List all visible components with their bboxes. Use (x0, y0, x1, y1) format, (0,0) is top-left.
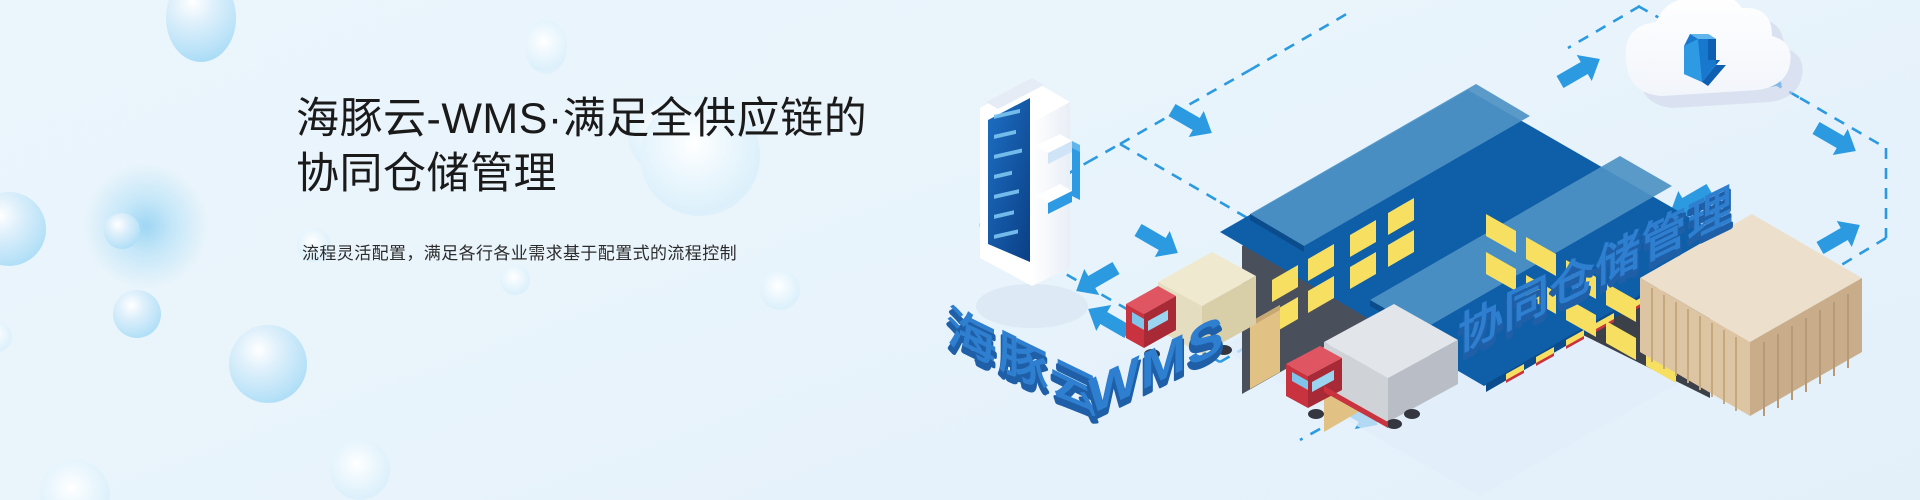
bubble-decoration (40, 460, 110, 500)
hero-banner: 海豚云-WMS·满足全供应链的 协同仓储管理 流程灵活配置，满足各行各业需求基于… (0, 0, 1920, 500)
arrow-icon (1131, 217, 1186, 266)
bubble-decoration (525, 20, 567, 74)
server-rack (976, 78, 1088, 328)
arrow-icon (1553, 46, 1608, 95)
bubble-decoration (113, 290, 161, 338)
arrow-icon (1809, 115, 1864, 164)
bubble-decoration (330, 440, 390, 500)
warehouse-illustration: 海豚云 海豚云 WMS WMS 协同仓储管理 协同仓储管理 (920, 0, 1920, 500)
bubble-decoration (0, 322, 12, 352)
arrow-icon (1813, 212, 1868, 261)
bubble-decoration (760, 270, 800, 310)
cloud-download (1626, 0, 1803, 108)
bubble-decoration (166, 0, 236, 62)
bubble-decoration (86, 166, 206, 286)
bubble-decoration (0, 192, 46, 266)
bubble-decoration (104, 213, 140, 249)
bubble-decoration (500, 265, 530, 295)
bubble-decoration (229, 325, 307, 403)
